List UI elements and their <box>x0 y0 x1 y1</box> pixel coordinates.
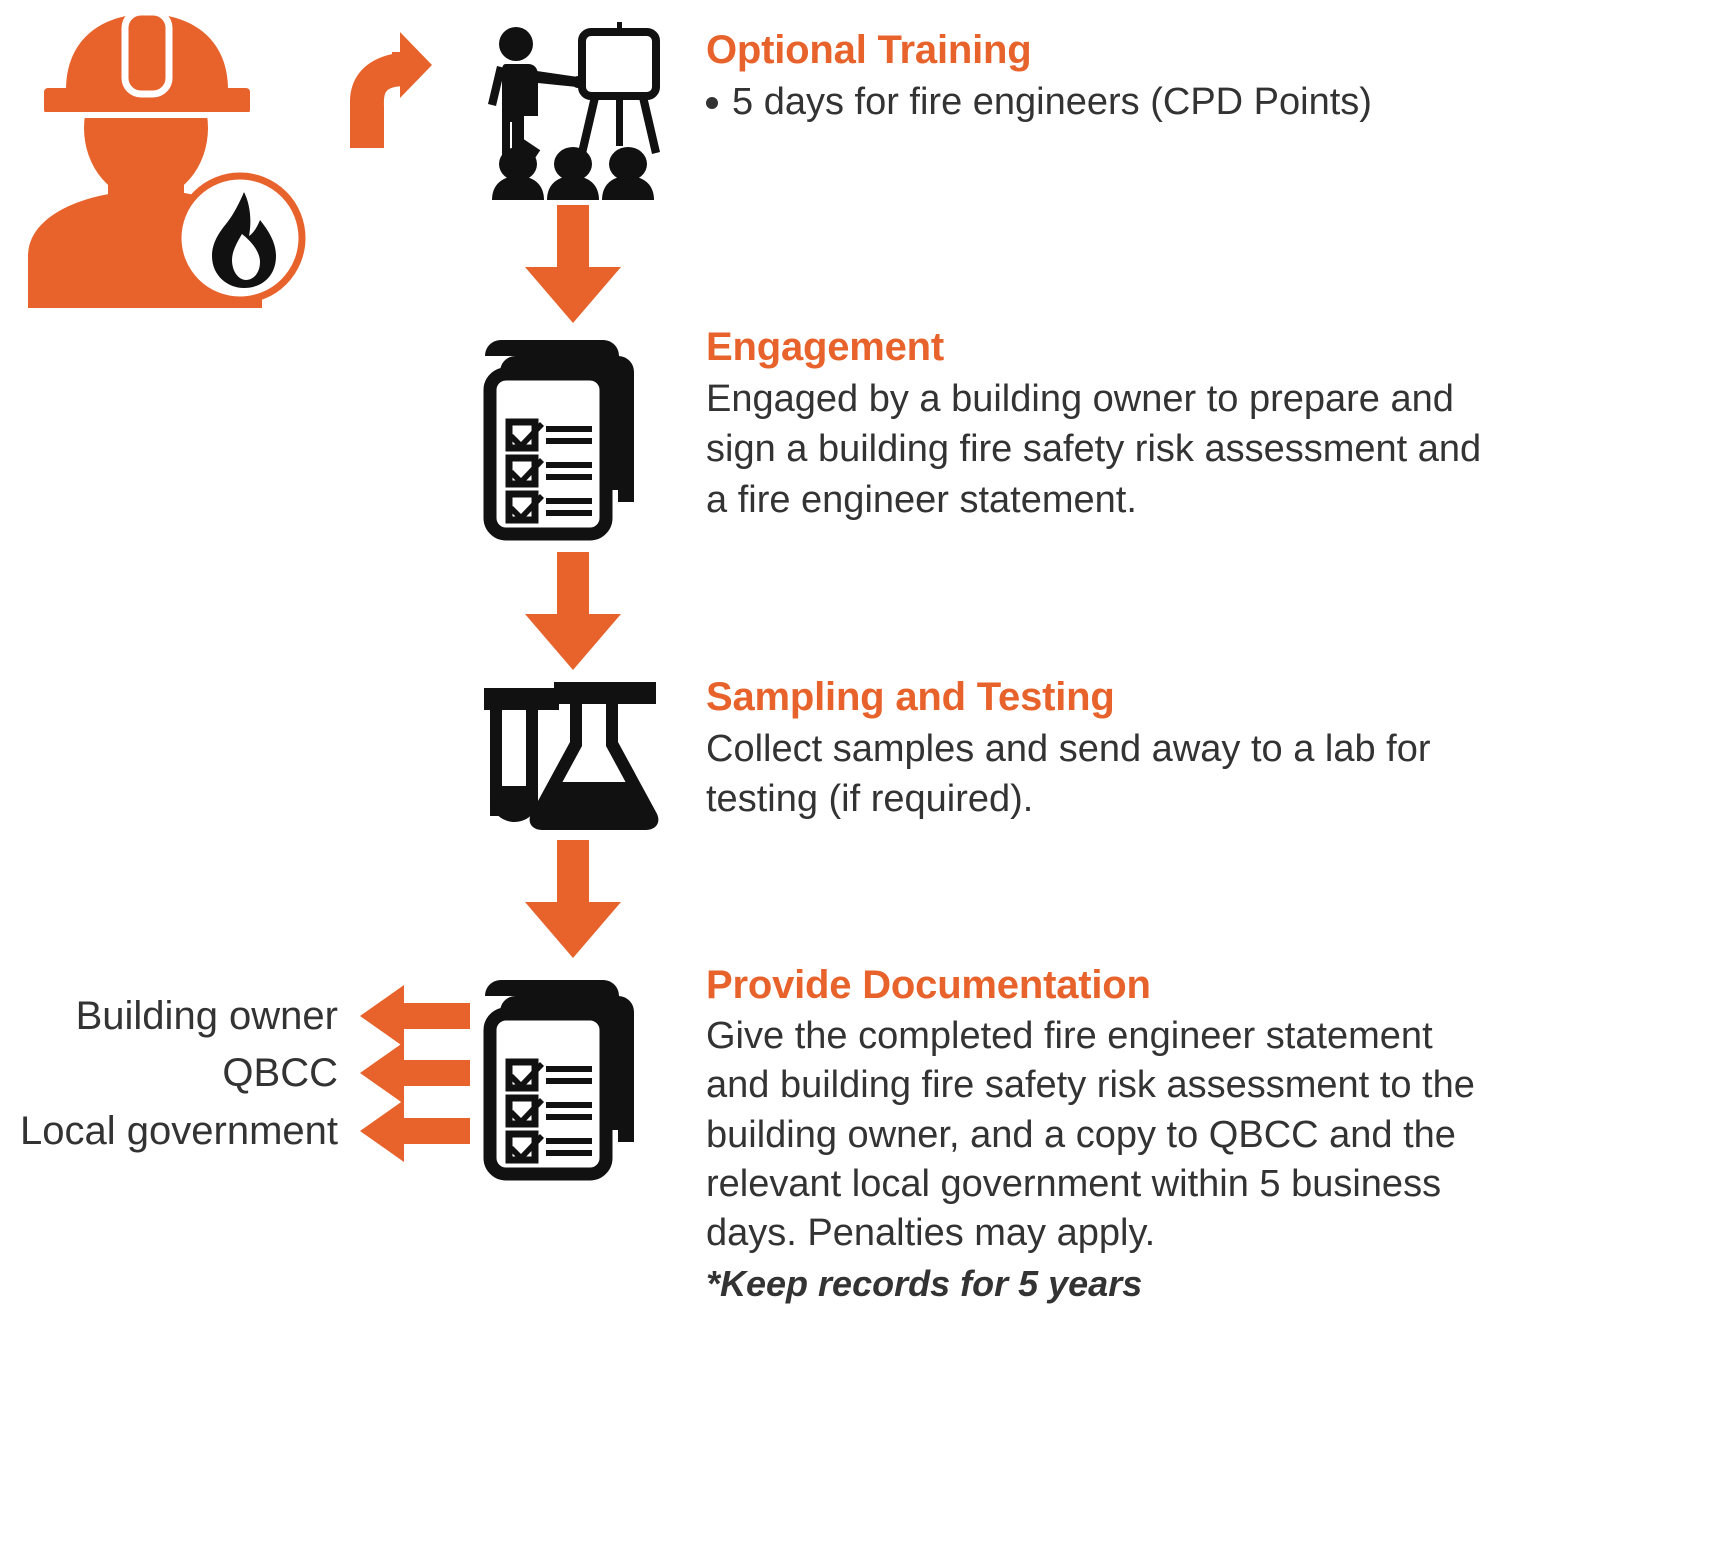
step-body-line: a fire engineer statement. <box>706 475 1716 526</box>
step-body-line: and building fire safety risk assessment… <box>706 1061 1730 1110</box>
clipboard-documents-checklist-icon-engagement <box>476 330 666 545</box>
step-body-line: relevant local government within 5 busin… <box>706 1160 1730 1209</box>
down-arrow-icon-3 <box>513 840 633 960</box>
down-arrow-icon-1 <box>513 205 633 325</box>
recipient-label: QBCC <box>222 1051 338 1096</box>
keep-records-note: *Keep records for 5 years <box>706 1263 1730 1305</box>
step-body-line: Engaged by a building owner to prepare a… <box>706 374 1716 425</box>
clipboard-documents-checklist-icon-documentation <box>476 970 666 1185</box>
left-arrow-icon <box>360 1100 470 1162</box>
recipient-label: Local government <box>20 1109 338 1154</box>
step-body-line: sign a building fire safety risk assessm… <box>706 424 1716 475</box>
curved-right-arrow-icon <box>232 30 432 150</box>
step-title: Sampling and Testing <box>706 675 1716 720</box>
step-body-line: Give the completed fire engineer stateme… <box>706 1012 1730 1061</box>
step-engagement-text: Engagement Engaged by a building owner t… <box>706 325 1716 525</box>
step-title: Optional Training <box>706 28 1706 73</box>
step-body-line: days. Penalties may apply. <box>706 1209 1730 1258</box>
step-sampling-testing-text: Sampling and Testing Collect samples and… <box>706 675 1716 825</box>
bullet-text: 5 days for fire engineers (CPD Points) <box>732 77 1372 128</box>
down-arrow-icon-2 <box>513 552 633 672</box>
flowchart-canvas: Optional Training 5 days for fire engine… <box>0 0 1730 1543</box>
step-optional-training-text: Optional Training 5 days for fire engine… <box>706 28 1706 127</box>
bullet-item: 5 days for fire engineers (CPD Points) <box>706 77 1706 128</box>
left-arrow-icon <box>360 1042 470 1104</box>
recipient-label: Building owner <box>76 994 338 1039</box>
step-provide-documentation-text: Provide Documentation Give the completed… <box>706 963 1730 1305</box>
step-body-line: testing (if required). <box>706 774 1716 825</box>
step-body-line: building owner, and a copy to QBCC and t… <box>706 1111 1730 1160</box>
recipient-row-qbcc: QBCC <box>0 1042 470 1104</box>
lab-flask-and-test-tubes-icon <box>470 672 675 832</box>
step-body-line: Collect samples and send away to a lab f… <box>706 724 1716 775</box>
bullet-dot-icon <box>706 97 718 109</box>
training-presenter-with-audience-icon <box>478 20 668 200</box>
recipient-row-building-owner: Building owner <box>0 985 470 1047</box>
step-title: Provide Documentation <box>706 963 1730 1008</box>
left-arrow-icon <box>360 985 470 1047</box>
recipient-row-local-government: Local government <box>0 1100 470 1162</box>
step-title: Engagement <box>706 325 1716 370</box>
